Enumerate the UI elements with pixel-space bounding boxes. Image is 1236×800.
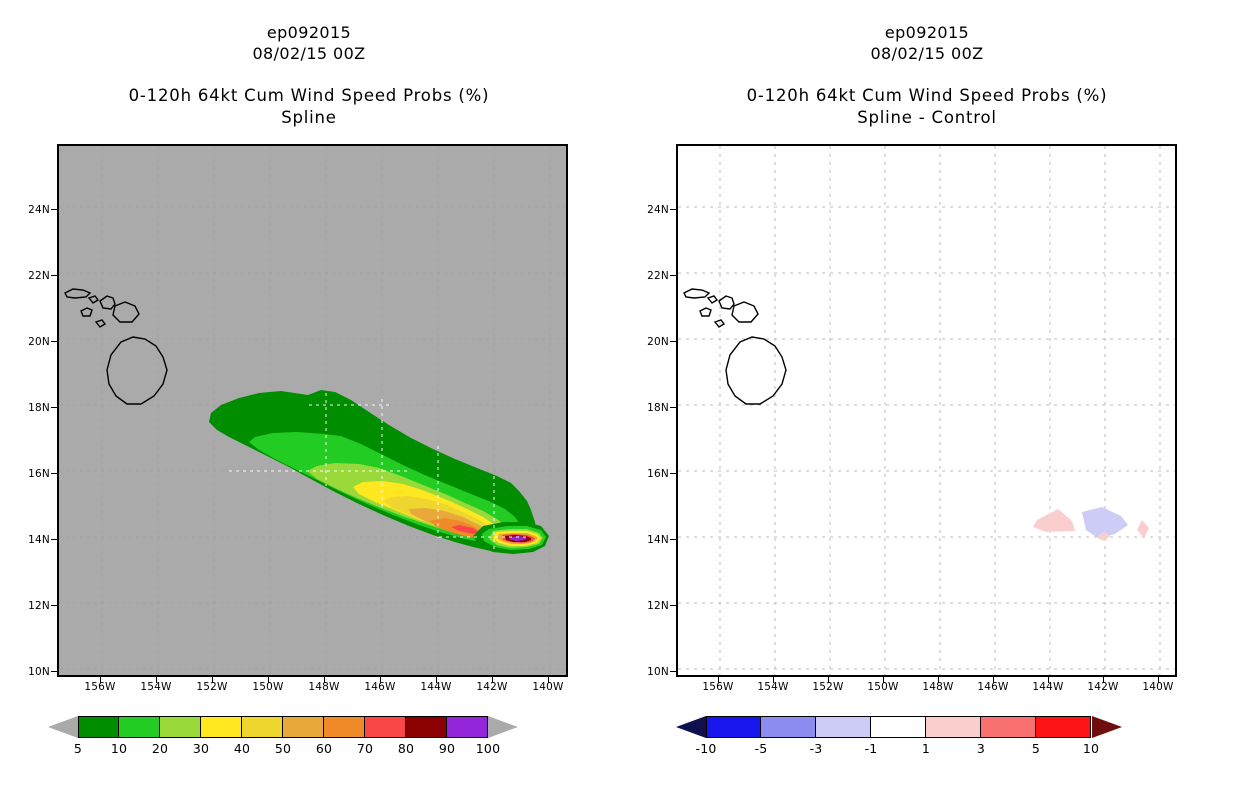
colorbar-label-5: 5 [1016,741,1056,756]
colorbar-right-high-cap [1092,716,1122,738]
colorbar-cell-10-20[interactable] [119,716,160,738]
hawaii-coastline-left [65,289,167,404]
y-tick-label-14N: 14N [10,534,50,546]
colorbar-cell-neg3-neg1[interactable] [816,716,871,738]
y-tick-label-10N: 10N [10,666,50,678]
y-tick-label-right-20N: 20N [629,336,669,348]
chart-subtitle-left: Spline [0,107,618,129]
colorbar-label-40: 40 [222,741,262,756]
x-tickmark-148W [324,677,325,683]
x-tickmark-150W [268,677,269,683]
map-plot-spline[interactable] [57,144,568,677]
colorbar-label-neg3: -3 [796,741,836,756]
x-tickmark-right-156W [718,677,719,683]
colorbar-label-1: 1 [906,741,946,756]
y-tickmark-right-20N [670,341,676,342]
x-tickmark-152W [212,677,213,683]
x-tickmark-140W [548,677,549,683]
colorbar-cell-neg5-neg3[interactable] [761,716,816,738]
y-tickmark-12N [51,605,57,606]
y-tick-label-right-16N: 16N [629,468,669,480]
x-tickmark-144W [436,677,437,683]
map-plot-difference[interactable] [676,144,1177,677]
y-tickmark-14N [51,539,57,540]
y-tickmark-right-12N [670,605,676,606]
y-tickmark-right-10N [670,671,676,672]
x-tickmark-146W [380,677,381,683]
colorbar-cell-80-90[interactable] [406,716,447,738]
y-tick-label-16N: 16N [10,468,50,480]
panel-right-titles: ep092015 08/02/15 00Z 0-120h 64kt Cum Wi… [618,0,1236,129]
colorbar-right-cells[interactable] [706,716,1091,738]
colorbar-cell-neg1-1[interactable] [871,716,926,738]
colorbar-cell-60-70[interactable] [324,716,365,738]
x-tickmark-154W [156,677,157,683]
colorbar-cell-30-40[interactable] [201,716,242,738]
colorbar-label-60: 60 [304,741,344,756]
x-tickmark-right-146W [993,677,994,683]
y-tick-label-right-10N: 10N [629,666,669,678]
colorbar-cell-50-60[interactable] [283,716,324,738]
contour-svg-spline [59,146,566,675]
colorbar-label-90: 90 [427,741,467,756]
y-tickmark-right-24N [670,209,676,210]
y-tick-label-right-18N: 18N [629,402,669,414]
colorbar-label-neg1: -1 [851,741,891,756]
x-tickmark-156W [100,677,101,683]
chart-title-right: 0-120h 64kt Cum Wind Speed Probs (%) [618,85,1236,107]
y-tick-label-right-14N: 14N [629,534,669,546]
colorbar-cell-90-100[interactable] [447,716,488,738]
colorbar-cell-3-5[interactable] [981,716,1036,738]
y-tick-label-24N: 24N [10,204,50,216]
y-tickmark-20N [51,341,57,342]
datetime-right: 08/02/15 00Z [618,43,1236,65]
colorbar-label-20: 20 [140,741,180,756]
colorbar-label-10: 10 [1071,741,1111,756]
x-tickmark-right-152W [828,677,829,683]
panel-left-titles: ep092015 08/02/15 00Z 0-120h 64kt Cum Wi… [0,0,618,129]
contour-svg-difference [678,146,1175,675]
colorbar-cell-1-3[interactable] [926,716,981,738]
y-tick-label-12N: 12N [10,600,50,612]
colorbar-left-low-cap [48,716,78,738]
x-tickmark-142W [492,677,493,683]
map-contour-area-right [678,146,1175,675]
y-tick-label-right-12N: 12N [629,600,669,612]
colorbar-label-10: 10 [99,741,139,756]
colorbar-label-70: 70 [345,741,385,756]
gridlines-right [678,146,1175,675]
colorbar-label-50: 50 [263,741,303,756]
colorbar-right-low-cap [676,716,706,738]
y-tick-label-18N: 18N [10,402,50,414]
colorbar-left-high-cap [488,716,518,738]
diff-patch-positive-west [1033,509,1075,532]
colorbar-label-30: 30 [181,741,221,756]
colorbar-label-100: 100 [468,741,508,756]
x-tickmark-right-144W [1048,677,1049,683]
y-tick-label-20N: 20N [10,336,50,348]
x-tickmark-right-150W [883,677,884,683]
colorbar-cell-5-10[interactable] [1036,716,1091,738]
y-tick-label-right-24N: 24N [629,204,669,216]
y-tickmark-22N [51,275,57,276]
datetime-left: 08/02/15 00Z [0,43,618,65]
x-tickmark-right-142W [1103,677,1104,683]
chart-subtitle-right: Spline - Control [618,107,1236,129]
y-tickmark-right-22N [670,275,676,276]
y-tickmark-16N [51,473,57,474]
colorbar-left-cells[interactable] [78,716,488,738]
y-tickmark-right-16N [670,473,676,474]
colorbar-label-80: 80 [386,741,426,756]
y-tickmark-10N [51,671,57,672]
colorbar-cell-70-80[interactable] [365,716,406,738]
colorbar-cell-40-50[interactable] [242,716,283,738]
hawaii-coastline-right [684,289,786,404]
colorbar-label-neg5: -5 [741,741,781,756]
colorbar-cell-20-30[interactable] [160,716,201,738]
colorbar-cell-5-10[interactable] [78,716,119,738]
diff-patch-positive-east [1137,520,1149,538]
y-tick-label-22N: 22N [10,270,50,282]
colorbar-label-3: 3 [961,741,1001,756]
x-tickmark-right-140W [1158,677,1159,683]
panel-spline: ep092015 08/02/15 00Z 0-120h 64kt Cum Wi… [0,0,618,800]
y-tick-label-right-22N: 22N [629,270,669,282]
y-tickmark-24N [51,209,57,210]
chart-title-left: 0-120h 64kt Cum Wind Speed Probs (%) [0,85,618,107]
colorbar-cell-neg10-neg5[interactable] [706,716,761,738]
colorbar-label-5: 5 [58,741,98,756]
x-tickmark-right-154W [773,677,774,683]
storm-id-right: ep092015 [618,22,1236,43]
y-tickmark-right-14N [670,539,676,540]
storm-id-left: ep092015 [0,22,618,43]
y-tickmark-right-18N [670,407,676,408]
y-tickmark-18N [51,407,57,408]
colorbar-label-neg10: -10 [686,741,726,756]
map-contour-area-left [59,146,566,675]
x-tickmark-right-148W [938,677,939,683]
